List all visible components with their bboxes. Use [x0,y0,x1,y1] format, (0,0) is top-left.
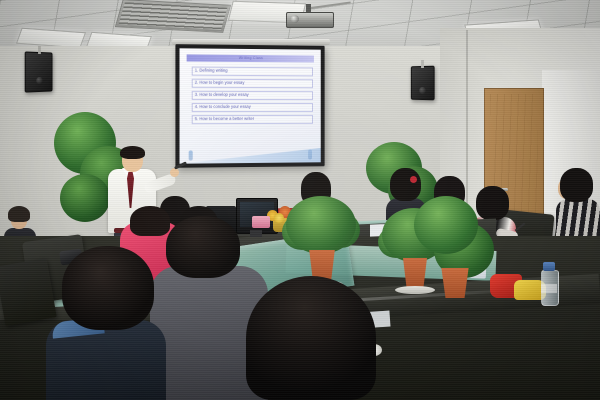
hair [8,206,30,222]
red-yellow-bag[interactable] [490,270,546,300]
slide-title-bar: Writing Class [187,54,314,62]
hair-clip [410,176,417,183]
foliage [414,196,478,254]
hair [62,246,154,330]
potted-plant-foreground-right [414,196,494,306]
hair [120,146,145,159]
foreground-student-dark-hair [246,276,376,400]
bottle-cap[interactable] [543,262,555,271]
speaker-icon [411,66,435,101]
water-bottle[interactable] [541,262,557,304]
slide-list-item: 2. How to begin your essay [192,79,313,88]
speaker-bracket [38,46,41,54]
slide-list-item: 4. How to conclude your essay [192,103,313,112]
slide-decoration-pin [308,150,312,160]
hair [560,168,593,202]
projector-icon [286,4,332,26]
torso [556,199,600,239]
projector-lens-icon [290,15,299,23]
slide-decoration-pin [189,150,193,160]
speaker-icon [25,51,53,92]
slide-outline-list: 1. Defining writing 2. How to begin your… [192,67,313,124]
slide-list-item: 5. How to become a better writer [192,115,313,124]
student-right-far [556,168,600,238]
foreground-student-navy [46,246,166,400]
air-vent [115,0,231,33]
speaker-bracket [421,60,424,68]
foliage [60,174,110,222]
slide-decoration [180,141,321,164]
projection-screen: Writing Class 1. Defining writing 2. How… [175,44,324,168]
slide-list-item: 3. How to develop your essay [192,91,313,100]
classroom-scene: Writing Class 1. Defining writing 2. How… [0,0,600,400]
hair [246,276,376,400]
slide-list-item: 1. Defining writing [192,67,313,76]
slide-surface: Writing Class 1. Defining writing 2. How… [180,48,321,163]
flower-pot [438,268,472,298]
foliage [286,196,356,254]
hair [166,216,240,278]
slide-title: Writing Class [187,54,314,62]
bottle-label [541,284,557,293]
